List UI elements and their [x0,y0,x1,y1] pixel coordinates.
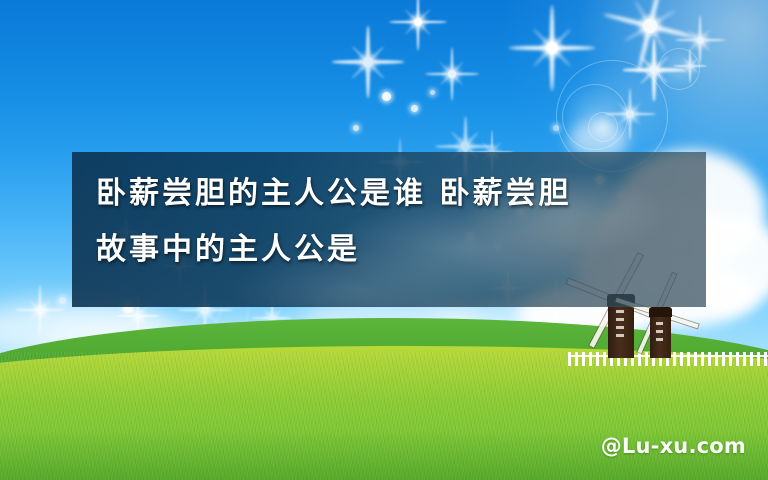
banner-image: 卧薪尝胆的主人公是谁 卧薪尝胆 故事中的主人公是 @Lu-xu.com [0,0,768,480]
windmill-window [656,322,663,325]
watermark-text: @Lu-xu.com [601,434,746,458]
sparkle-core [448,70,456,78]
windmill-cap [649,307,672,317]
sparkle-dot [430,90,435,95]
windmill-window [656,330,663,333]
windmill-window [656,338,663,341]
sparkle-core [363,57,373,67]
windmill-small [640,298,690,358]
windmill-window [616,334,624,337]
sparkle-core [201,306,209,314]
sparkle-dot [411,105,418,112]
sparkle-star [15,285,65,335]
sparkle-dot [553,125,559,131]
sparkle-star [673,49,707,83]
windmill-window [616,318,624,321]
sparkle-core [546,42,558,54]
sparkle-star [332,26,404,98]
sparkle-dot [353,125,359,131]
sparkle-dot [382,92,391,101]
windmill-window [616,326,624,329]
sparkle-dot [59,297,66,304]
windmill-window [616,310,624,313]
banner-title-text: 卧薪尝胆的主人公是谁 卧薪尝胆 故事中的主人公是 [96,166,696,278]
text-banner-overlay: 卧薪尝胆的主人公是谁 卧薪尝胆 故事中的主人公是 [72,152,706,307]
sparkle-star [604,88,656,140]
sparkle-core [697,37,704,44]
sparkle-core [626,110,633,117]
sparkle-core [37,307,44,314]
sparkle-star [509,5,595,91]
